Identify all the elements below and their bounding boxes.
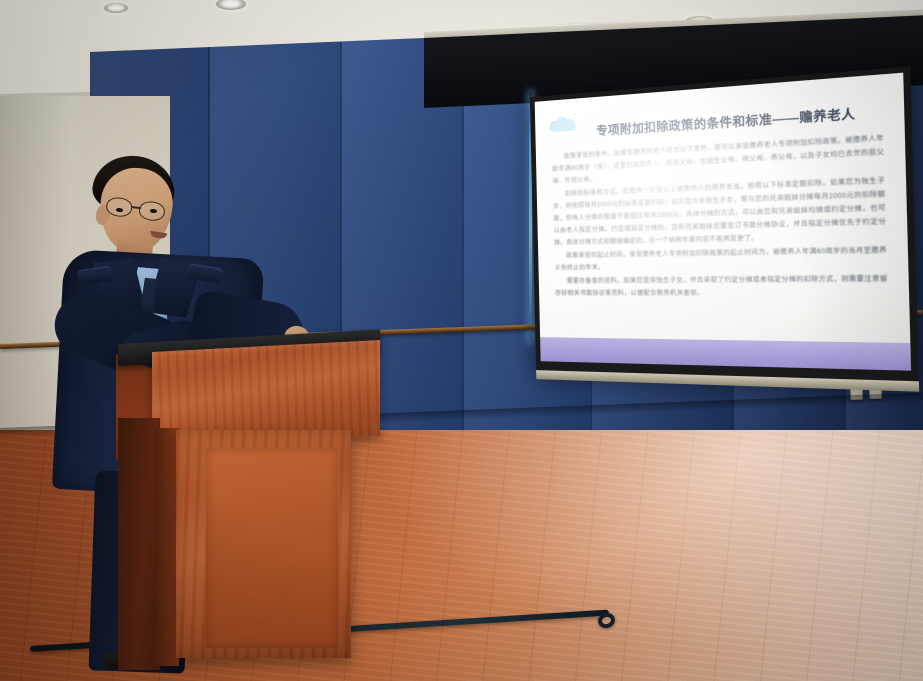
projected-slide: 专项附加扣除政策的条件和标准——赡养老人 政策享受的条件。如果您赡养的老人符合以… (535, 73, 911, 371)
cloud-icon (546, 113, 579, 135)
slide-footer-band (540, 337, 911, 371)
slide-body: 政策享受的条件。如果您赡养的老人符合以下条件，就可以享受赡养老人专项附加扣除政策… (552, 132, 888, 300)
slide-paragraph: 政策享受的起止时间。享受赡养老人专项附加扣除政策的起止时间为，被赡养人年满60周… (554, 244, 887, 274)
downlight-icon (104, 3, 128, 13)
slide-paragraph: 扣除的标准和方式。您赡养一位及以上被赡养人的赡养支出，按照以下标准定额扣除。如果… (553, 175, 887, 249)
slide-title: 专项附加扣除政策的条件和标准——赡养老人 (596, 103, 886, 139)
projection-screen[interactable]: 专项附加扣除政策的条件和标准——赡养老人 政策享受的条件。如果您赡养的老人符合以… (530, 66, 919, 381)
eye (116, 208, 123, 212)
podium-front-panel (206, 448, 338, 648)
eye (150, 209, 157, 213)
slide-paragraph: 需要存备查的资料。如果您是非独生子女，并且采取了约定分摊或者指定分摊的扣除方式，… (555, 273, 888, 300)
podium-left-edge (118, 418, 160, 670)
conference-room-photo: 专项附加扣除政策的条件和标准——赡养老人 政策享受的条件。如果您赡养的老人符合以… (0, 0, 923, 681)
